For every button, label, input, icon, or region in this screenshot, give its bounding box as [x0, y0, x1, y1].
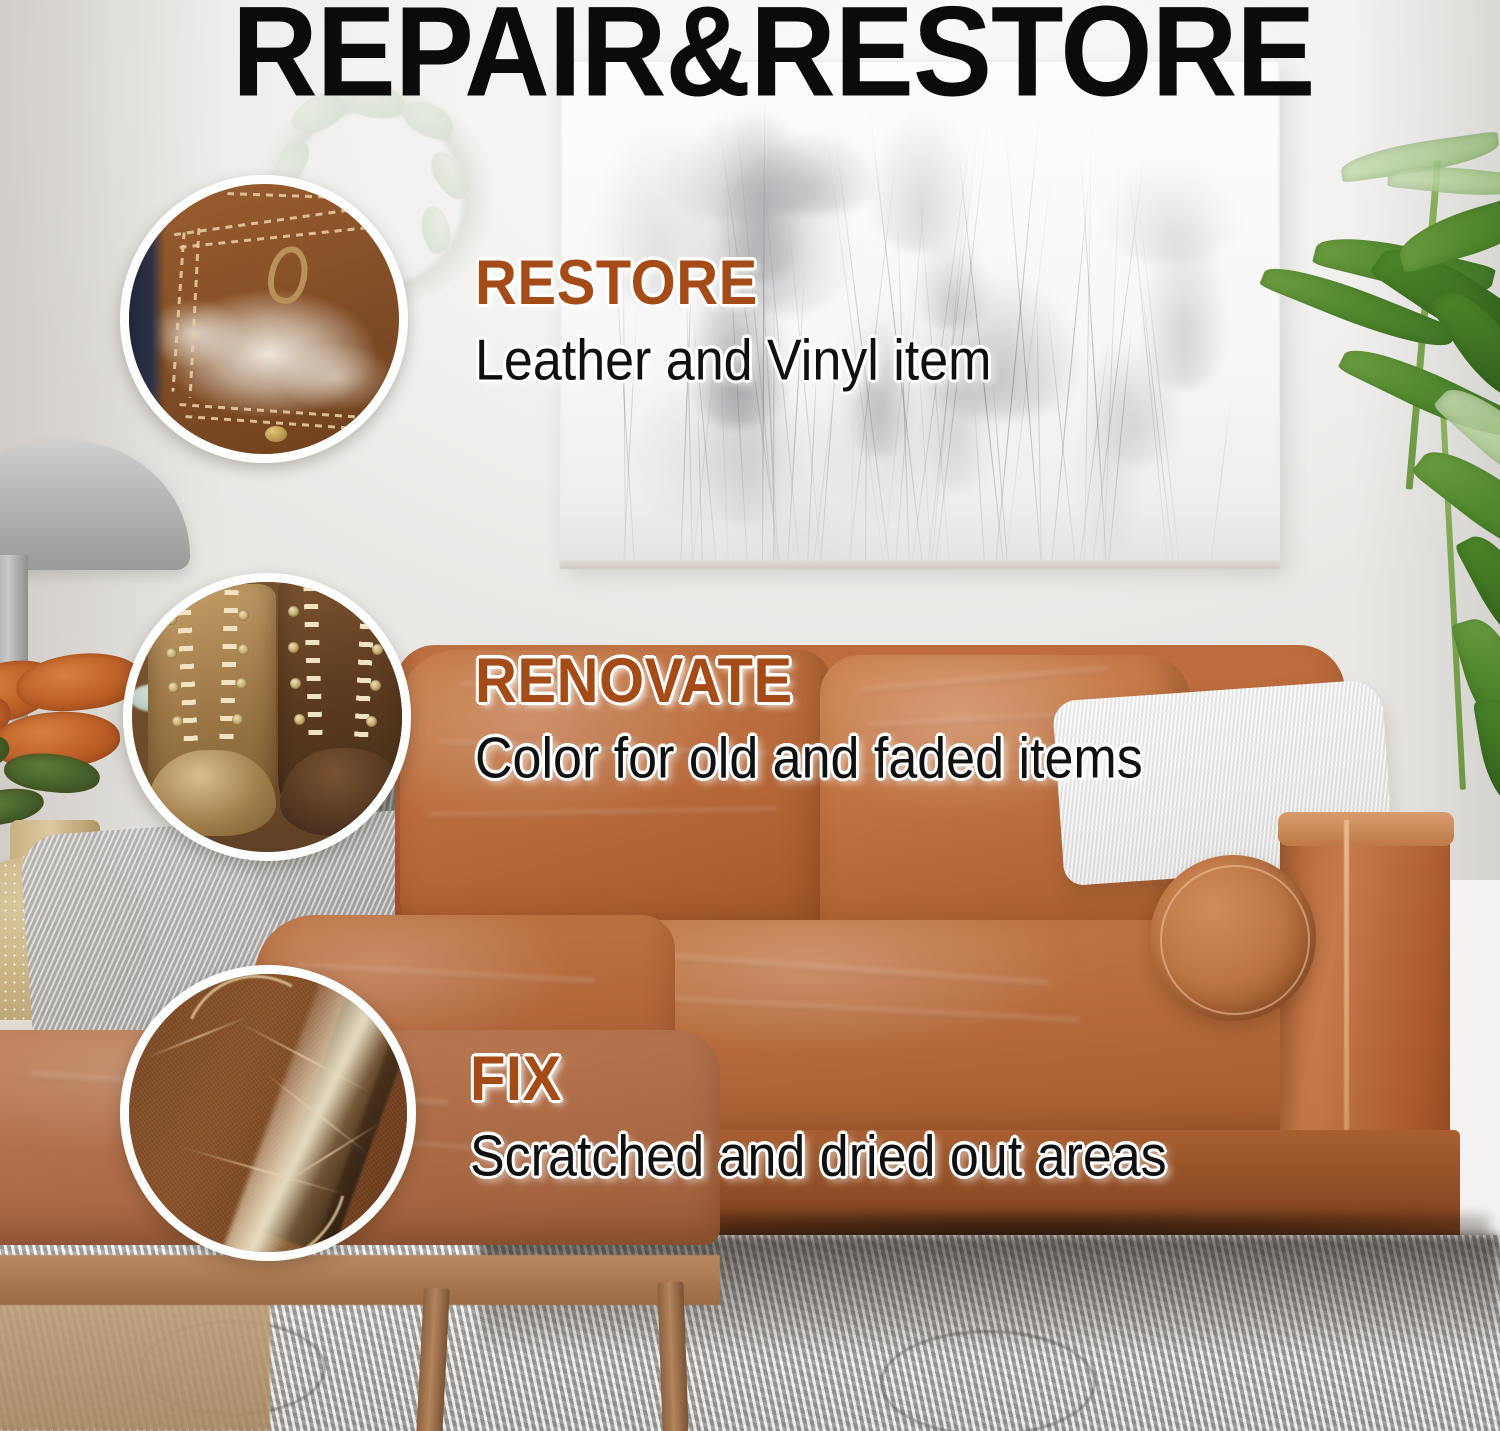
boot-eyelet: [172, 716, 183, 727]
feature-restore-heading: RESTORE: [475, 252, 991, 315]
bag-rivet: [265, 426, 287, 442]
artwork-bottom-edge: [560, 560, 1280, 569]
boot-eyelet: [232, 714, 243, 725]
plant-leaf: [1473, 695, 1500, 811]
boot-eyelet: [366, 716, 377, 727]
moldy-leather-bag-photo: [120, 175, 408, 463]
boot-eyelet: [294, 714, 305, 725]
inset-photo-renovate: [123, 573, 411, 861]
feature-fix-heading: FIX: [470, 1048, 1167, 1111]
bolster-seam: [1160, 865, 1310, 1015]
scratched-leather-closeup-photo: [120, 965, 416, 1261]
ottoman-leg: [657, 1282, 688, 1431]
boot-eyelet: [370, 608, 381, 619]
zipper-pull-icon: [263, 243, 312, 308]
artwork-bottom-wash: [560, 395, 1280, 565]
plant-leaf: [1393, 190, 1500, 274]
inset-photo-fix: [120, 965, 416, 1261]
boot-eyelet: [236, 678, 247, 689]
cushion-crease: [630, 951, 1050, 988]
cushion-crease: [620, 994, 1080, 1025]
ottoman-wood-rail: [0, 1255, 720, 1305]
boot-eyelet: [166, 648, 177, 659]
feature-fix: FIX Scratched and dried out areas: [470, 1048, 1167, 1180]
boot-eyelet: [288, 606, 299, 617]
boot-eyelet: [238, 644, 249, 655]
artwork-puff: [869, 110, 974, 252]
feature-renovate-heading: RENOVATE: [475, 650, 1143, 713]
boot-eyelet: [168, 682, 179, 693]
boot-eyelet: [166, 614, 177, 625]
boot-eyelet: [290, 678, 301, 689]
worn-leather-boots-photo: [123, 573, 411, 861]
feature-renovate-subheading: Color for old and faded items: [475, 730, 1143, 787]
bag-stitching: [171, 232, 185, 392]
page-title: REPAIR&RESTORE: [232, 0, 1314, 125]
feature-fix-subheading: Scratched and dried out areas: [470, 1128, 1167, 1185]
boot-eyelet: [288, 642, 299, 653]
promo-banner-image: REPAIR&RESTORE RESTORE Leather and Vinyl…: [0, 0, 1500, 1431]
feature-restore: RESTORE Leather and Vinyl item: [475, 252, 991, 384]
boot-eyelet: [370, 680, 381, 691]
inset-photo-restore: [120, 175, 408, 463]
cushion-crease: [428, 807, 778, 819]
bag-stitching: [189, 228, 201, 398]
feature-renovate: RENOVATE Color for old and faded items: [475, 650, 1143, 782]
boot-eyelet: [238, 610, 249, 621]
bag-stitching: [227, 192, 337, 199]
boot-eyelet: [372, 644, 383, 655]
sofa-arm-top: [1278, 812, 1454, 846]
feature-restore-subheading: Leather and Vinyl item: [475, 332, 991, 389]
